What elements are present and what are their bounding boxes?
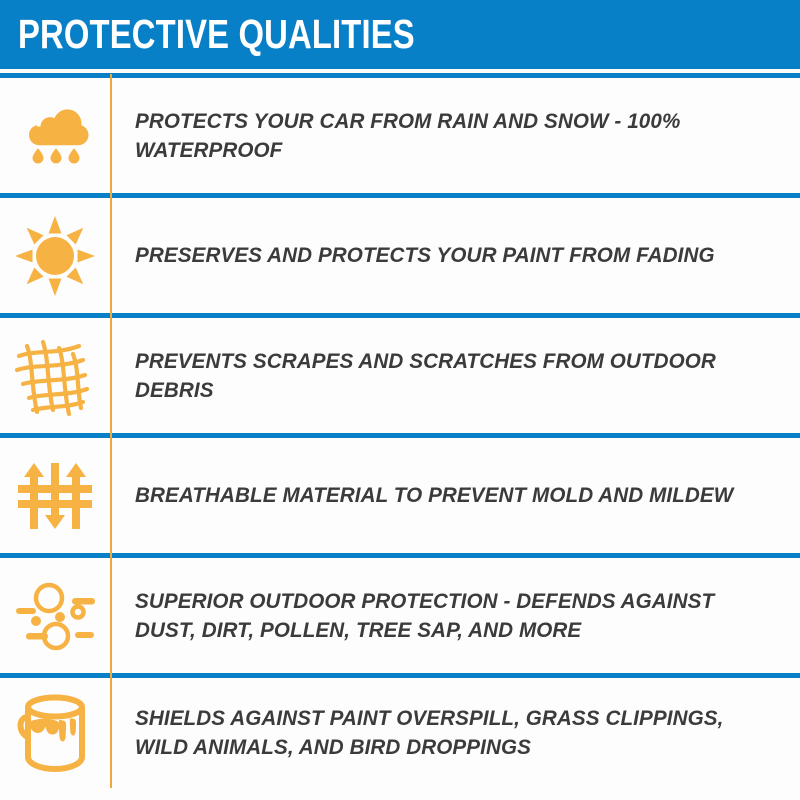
icon-cell [0,78,110,193]
icon-cell [0,318,110,433]
feature-row-scratches: PREVENTS SCRAPES AND SCRATCHES FROM OUTD… [0,318,800,438]
feature-row-dust: SUPERIOR OUTDOOR PROTECTION - DEFENDS AG… [0,558,800,678]
text-cell: PREVENTS SCRAPES AND SCRATCHES FROM OUTD… [110,347,800,404]
breathable-airflow-arrows-icon [14,455,96,537]
dust-particles-icon [12,576,98,656]
icon-cell [0,438,110,553]
text-cell: PRESERVES AND PROTECTS YOUR PAINT FROM F… [110,241,800,270]
feature-row-rain: PROTECTS YOUR CAR FROM RAIN AND SNOW - 1… [0,78,800,198]
text-cell: SHIELDS AGAINST PAINT OVERSPILL, GRASS C… [110,704,800,761]
list-item: PROTECTS YOUR CAR FROM RAIN AND SNOW - 1… [0,78,800,193]
column-divider [110,673,112,788]
list-item: SHIELDS AGAINST PAINT OVERSPILL, GRASS C… [0,678,800,788]
feature-list: PROTECTS YOUR CAR FROM RAIN AND SNOW - 1… [0,78,800,800]
feature-row-paint: SHIELDS AGAINST PAINT OVERSPILL, GRASS C… [0,678,800,800]
text-cell: BREATHABLE MATERIAL TO PREVENT MOLD AND … [110,481,800,510]
list-item: BREATHABLE MATERIAL TO PREVENT MOLD AND … [0,438,800,553]
rain-cloud-icon [15,96,95,176]
column-divider [110,433,112,559]
feature-label: PROTECTS YOUR CAR FROM RAIN AND SNOW - 1… [135,107,756,164]
page-title: PROTECTIVE QUALITIES [18,14,415,55]
column-divider [110,74,112,199]
text-cell: SUPERIOR OUTDOOR PROTECTION - DEFENDS AG… [110,587,800,644]
protective-qualities-infographic: PROTECTIVE QUALITIES [0,0,800,800]
list-item: PREVENTS SCRAPES AND SCRATCHES FROM OUTD… [0,318,800,433]
icon-cell [0,558,110,673]
feature-label: SHIELDS AGAINST PAINT OVERSPILL, GRASS C… [135,704,756,761]
scratches-mesh-icon [13,334,97,418]
column-divider [110,313,112,439]
feature-label: PREVENTS SCRAPES AND SCRATCHES FROM OUTD… [135,347,756,404]
header-banner: PROTECTIVE QUALITIES [0,0,800,69]
column-divider [110,553,112,679]
feature-label: PRESERVES AND PROTECTS YOUR PAINT FROM F… [135,241,756,270]
text-cell: PROTECTS YOUR CAR FROM RAIN AND SNOW - 1… [110,107,800,164]
paint-can-icon [15,691,95,775]
feature-row-breathable: BREATHABLE MATERIAL TO PREVENT MOLD AND … [0,438,800,558]
list-item: PRESERVES AND PROTECTS YOUR PAINT FROM F… [0,198,800,313]
column-divider [110,193,112,319]
feature-label: SUPERIOR OUTDOOR PROTECTION - DEFENDS AG… [135,587,756,644]
feature-label: BREATHABLE MATERIAL TO PREVENT MOLD AND … [135,481,756,510]
icon-cell [0,678,110,788]
sun-icon [13,214,97,298]
feature-row-sun: PRESERVES AND PROTECTS YOUR PAINT FROM F… [0,198,800,318]
icon-cell [0,198,110,313]
list-item: SUPERIOR OUTDOOR PROTECTION - DEFENDS AG… [0,558,800,673]
